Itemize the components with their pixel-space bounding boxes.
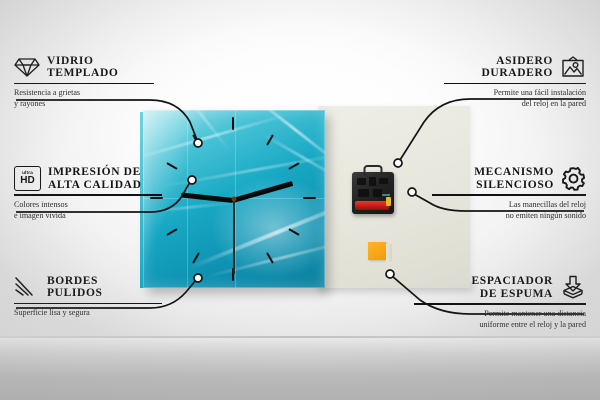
infographic-canvas: VIDRIO TEMPLADO Resistencia a grietas y …: [0, 0, 600, 400]
vignette-overlay: [0, 0, 600, 400]
